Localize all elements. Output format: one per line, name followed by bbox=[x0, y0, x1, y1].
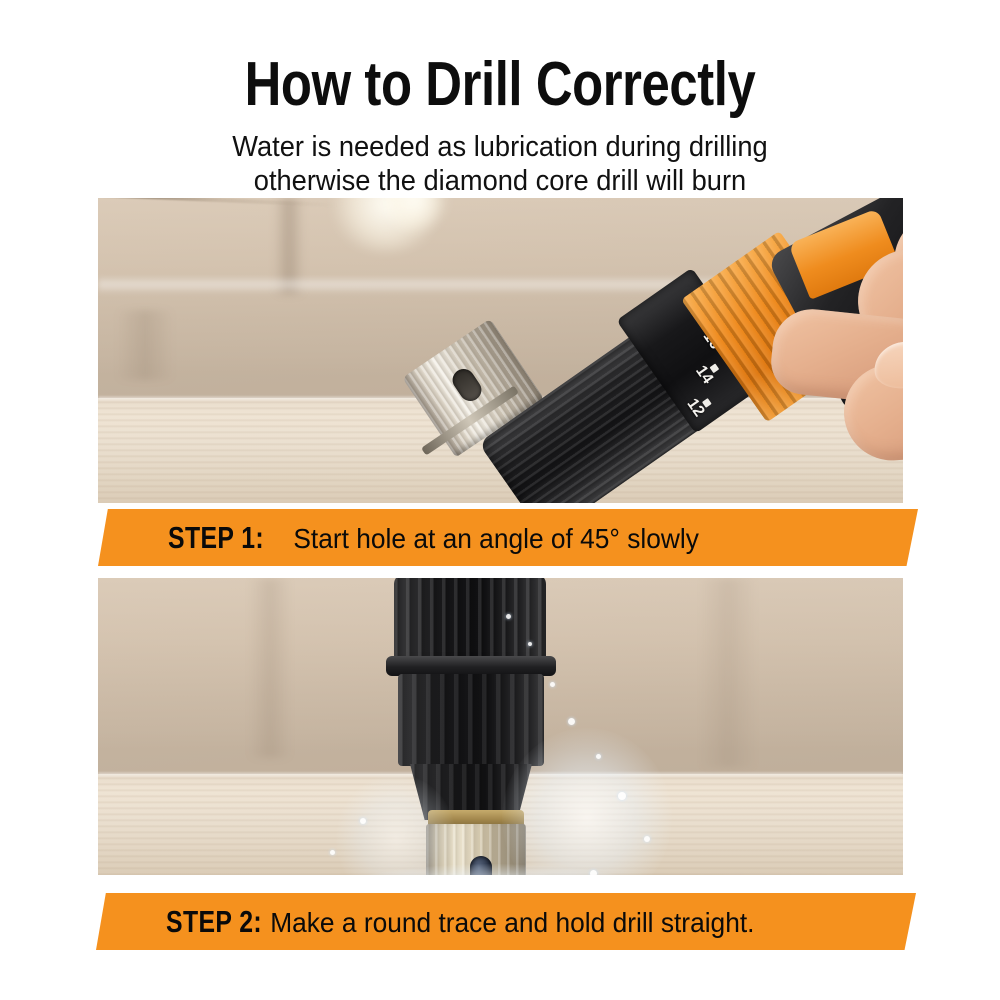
wall-shadow-blur bbox=[116, 310, 174, 380]
water-droplet bbox=[618, 792, 626, 800]
step-2-description: Make a round trace and hold drill straig… bbox=[242, 907, 754, 939]
water-droplet bbox=[330, 850, 335, 855]
drill-sleeve bbox=[398, 674, 544, 766]
photo-step-1: 12 14 16 18 bbox=[98, 198, 903, 503]
step-1-label: STEP 1: bbox=[168, 520, 264, 556]
subtitle-line-2: otherwise the diamond core drill will bu… bbox=[30, 165, 970, 198]
water-droplet bbox=[596, 754, 601, 759]
step-2-text-group: STEP 2: Make a round trace and hold dril… bbox=[96, 904, 787, 940]
water-droplet bbox=[528, 642, 532, 646]
water-droplet bbox=[506, 614, 511, 619]
photo-step-2 bbox=[98, 578, 903, 875]
step-1-description: Start hole at an angle of 45° slowly bbox=[252, 523, 699, 555]
water-droplet bbox=[550, 682, 555, 687]
drill-tool-vertical bbox=[98, 578, 903, 875]
step-1-text-group: STEP 1: Start hole at an angle of 45° sl… bbox=[98, 520, 728, 556]
water-droplet bbox=[590, 870, 597, 875]
operator-hand bbox=[698, 198, 903, 503]
bit-side-hole bbox=[470, 856, 492, 875]
infographic-page: How to Drill Correctly Water is needed a… bbox=[0, 0, 1000, 1000]
chuck-collar-ring bbox=[386, 656, 556, 676]
water-droplet bbox=[360, 818, 366, 824]
page-title: How to Drill Correctly bbox=[90, 52, 910, 118]
step-1-banner: STEP 1: Start hole at an angle of 45° sl… bbox=[98, 509, 918, 566]
step-2-banner: STEP 2: Make a round trace and hold dril… bbox=[96, 893, 916, 950]
header: How to Drill Correctly Water is needed a… bbox=[0, 52, 1000, 198]
subtitle-line-1: Water is needed as lubrication during dr… bbox=[30, 131, 970, 164]
water-droplet bbox=[568, 718, 575, 725]
water-droplet bbox=[644, 836, 650, 842]
